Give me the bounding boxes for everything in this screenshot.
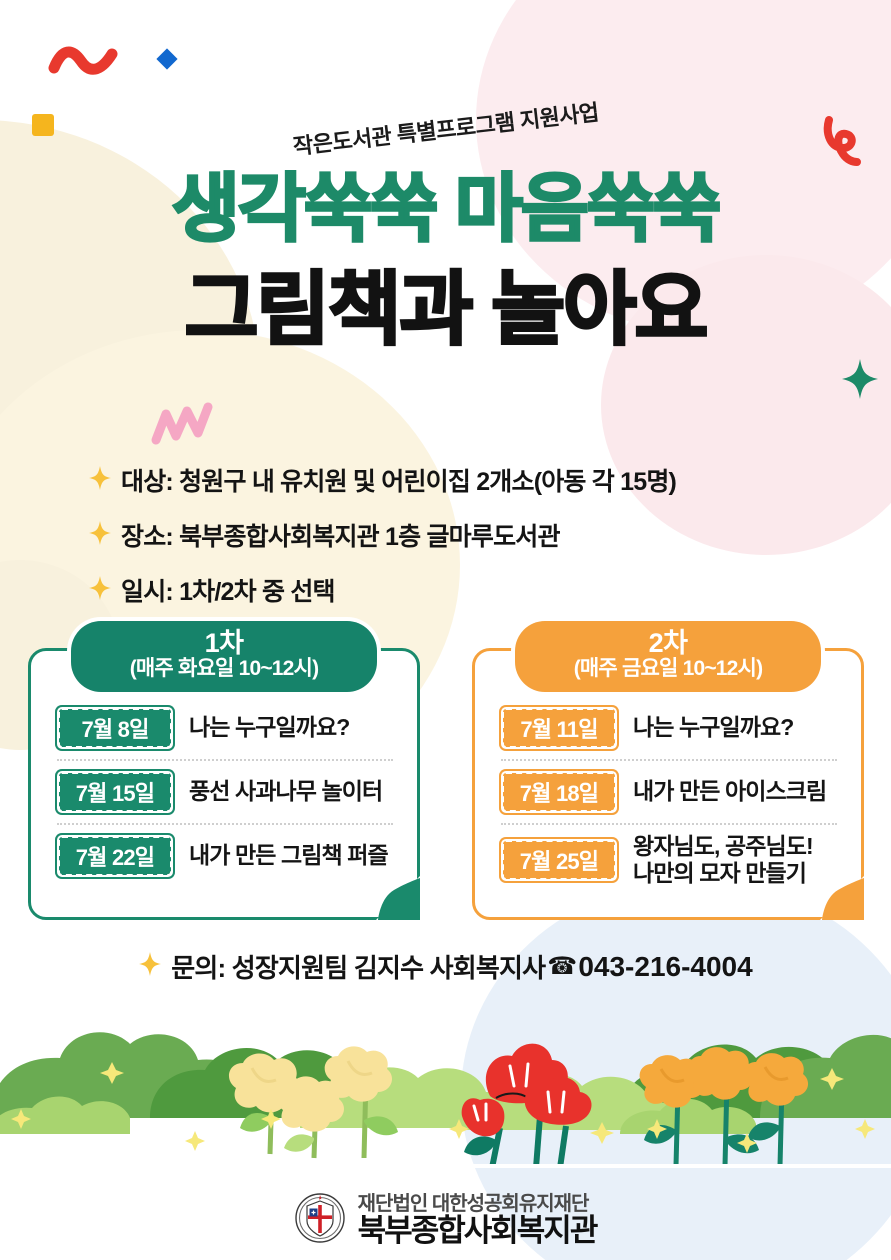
folded-corner-icon: [376, 876, 420, 920]
table-row: 7월 22일 내가 만든 그림책 퍼즐: [45, 827, 403, 885]
program-title: 내가 만든 아이스크림: [633, 778, 826, 805]
program-title: 왕자님도, 공주님도! 나만의 모자 만들기: [633, 833, 813, 887]
schedule-rows-session-2: 7월 11일 나는 누구일까요? 7월 18일 내가 만든 아이스크림 7월 2…: [489, 699, 847, 893]
info-text-target: 대상: 청원구 내 유치원 및 어린이집 2개소(아동 각 15명): [121, 462, 676, 498]
garden-illustration: [0, 968, 891, 1168]
diamond-icon: [152, 44, 182, 79]
table-row: 7월 11일 나는 누구일까요?: [489, 699, 847, 757]
program-title: 내가 만든 그림책 퍼즐: [189, 842, 388, 869]
zigzag-icon: [150, 400, 214, 451]
program-title: 풍선 사과나무 놀이터: [189, 778, 382, 805]
table-row: 7월 18일 내가 만든 아이스크림: [489, 763, 847, 821]
card-title-session-1: 1차: [71, 629, 377, 657]
sparkle-icon: [88, 520, 112, 551]
row-divider: [57, 759, 393, 761]
program-title: 나는 누구일까요?: [633, 714, 793, 741]
info-text-place: 장소: 북부종합사회복지관 1층 글마루도서관: [121, 517, 560, 553]
card-subtitle-session-1: (매주 화요일 10~12시): [71, 657, 377, 681]
row-divider: [57, 823, 393, 825]
squiggle-icon: [48, 44, 120, 81]
info-text-date: 일시: 1차/2차 중 선택: [121, 572, 335, 608]
date-chip: 7월 15일: [55, 769, 175, 815]
date-chip: 7월 22일: [55, 833, 175, 879]
date-chip: 7월 25일: [499, 837, 619, 883]
card-header-session-2: 2차 (매주 금요일 10~12시): [515, 621, 821, 692]
organization-seal-icon: [295, 1193, 345, 1248]
eyebrow-text: 작은도서관 특별프로그램 지원사업: [291, 95, 600, 162]
footer-org-parent: 재단법인 대한성공회유지재단: [358, 1194, 597, 1215]
page-title-line2: 그림책과 놀아요: [0, 270, 891, 350]
card-subtitle-session-2: (매주 금요일 10~12시): [515, 657, 821, 681]
poster-eyebrow: 작은도서관 특별프로그램 지원사업: [0, 112, 891, 144]
card-title-session-2: 2차: [515, 629, 821, 657]
row-divider: [501, 759, 837, 761]
program-title: 나는 누구일까요?: [189, 714, 349, 741]
folded-corner-icon: [820, 876, 864, 920]
table-row: 7월 8일 나는 누구일까요?: [45, 699, 403, 757]
date-chip: 7월 11일: [499, 705, 619, 751]
schedule-cards: 1차 (매주 화요일 10~12시) 7월 8일 나는 누구일까요? 7월 15…: [28, 648, 864, 920]
sparkle-icon-green: [841, 358, 879, 405]
footer-org-text: 재단법인 대한성공회유지재단 북부종합사회복지관: [358, 1194, 597, 1248]
sparkle-icon: [88, 575, 112, 606]
footer-org-name: 북부종합사회복지관: [358, 1215, 597, 1248]
date-chip: 7월 8일: [55, 705, 175, 751]
sparkle-icon: [88, 465, 112, 496]
table-row: 7월 15일 풍선 사과나무 놀이터: [45, 763, 403, 821]
info-list: 대상: 청원구 내 유치원 및 어린이집 2개소(아동 각 15명) 장소: 북…: [88, 462, 828, 627]
poster-canvas: 작은도서관 특별프로그램 지원사업 생각쑥쑥 마음쑥쑥 그림책과 놀아요 대상:…: [0, 0, 891, 1260]
page-title-line1: 생각쑥쑥 마음쑥쑥: [0, 172, 891, 246]
info-row-target: 대상: 청원구 내 유치원 및 어린이집 2개소(아동 각 15명): [88, 462, 828, 498]
schedule-card-session-1: 1차 (매주 화요일 10~12시) 7월 8일 나는 누구일까요? 7월 15…: [28, 648, 420, 920]
schedule-rows-session-1: 7월 8일 나는 누구일까요? 7월 15일 풍선 사과나무 놀이터 7월 22…: [45, 699, 403, 885]
schedule-card-session-2: 2차 (매주 금요일 10~12시) 7월 11일 나는 누구일까요? 7월 1…: [472, 648, 864, 920]
footer-logo-block: 재단법인 대한성공회유지재단 북부종합사회복지관: [0, 1193, 891, 1248]
date-chip: 7월 18일: [499, 769, 619, 815]
row-divider: [501, 823, 837, 825]
info-row-date: 일시: 1차/2차 중 선택: [88, 572, 828, 608]
info-row-place: 장소: 북부종합사회복지관 1층 글마루도서관: [88, 517, 828, 553]
card-header-session-1: 1차 (매주 화요일 10~12시): [71, 621, 377, 692]
table-row: 7월 25일 왕자님도, 공주님도! 나만의 모자 만들기: [489, 827, 847, 893]
